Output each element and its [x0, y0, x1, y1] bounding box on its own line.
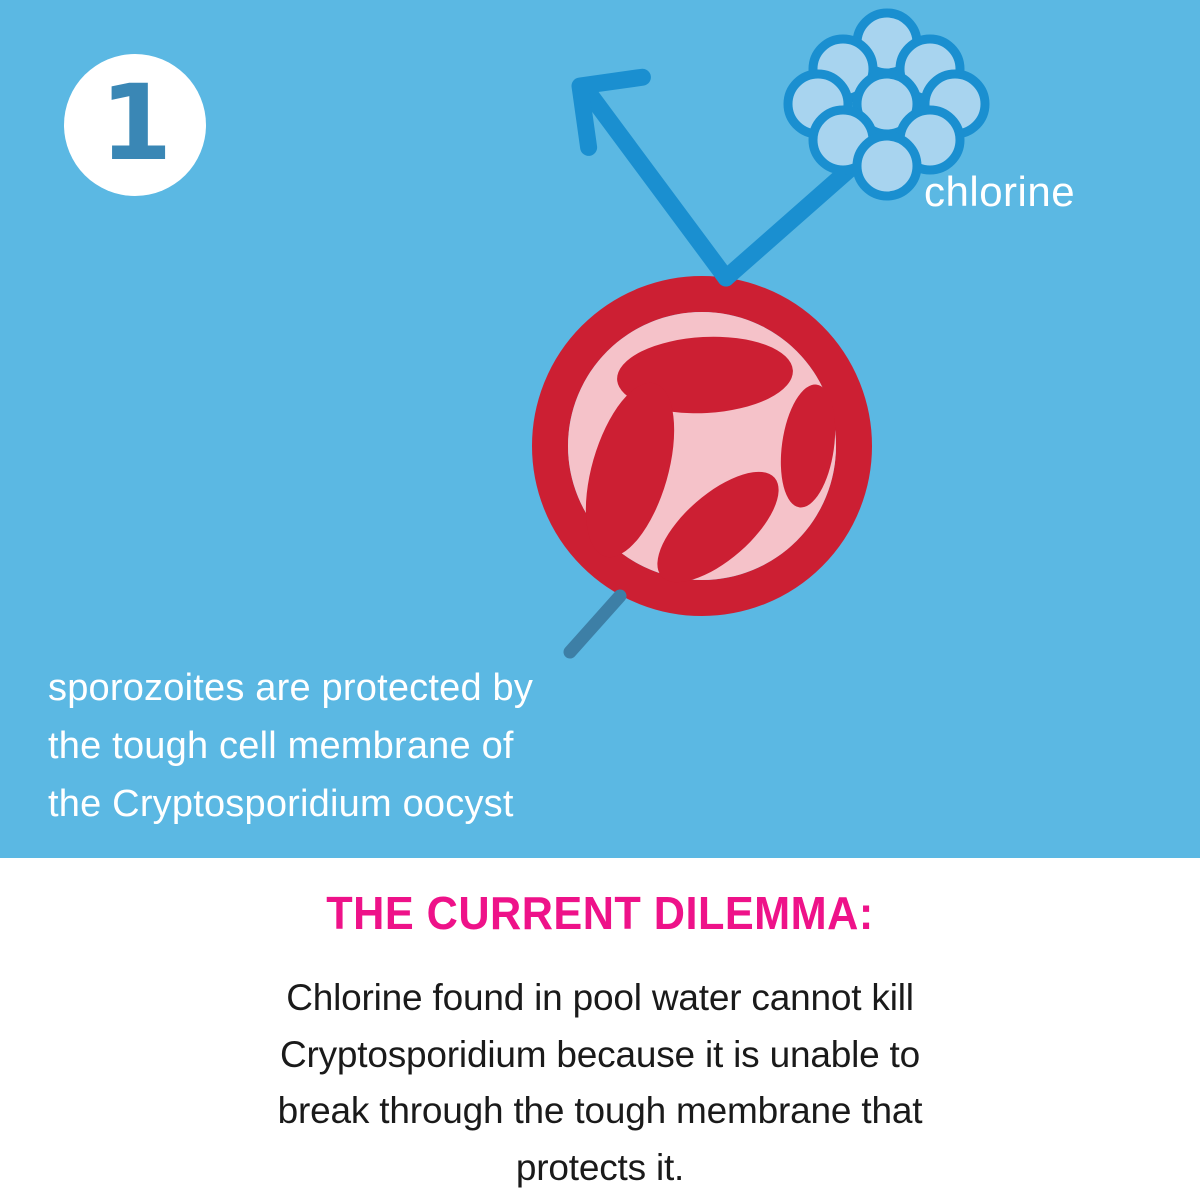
- illustration-panel: 1 chlorine sporozoites are protected by …: [0, 0, 1200, 858]
- sporozoite-bottom: [640, 453, 797, 601]
- caption-line: sporozoites are protected by: [48, 660, 688, 718]
- chlorine-atom: [900, 39, 960, 99]
- illustration-caption: sporozoites are protected by the tough c…: [48, 660, 688, 833]
- chlorine-atom: [925, 74, 985, 134]
- oocyst-membrane-ring: [550, 294, 854, 598]
- caption-line: the tough cell membrane of: [48, 718, 688, 776]
- arrow-incoming-segment: [726, 160, 860, 278]
- sporozoite-left: [569, 373, 692, 567]
- arrow-head: [580, 77, 651, 147]
- step-number-badge: 1: [64, 54, 206, 196]
- sporozoite-right: [774, 381, 843, 511]
- chlorine-atom: [857, 13, 917, 73]
- dilemma-body: Chlorine found in pool water cannot kill…: [120, 970, 1080, 1196]
- arrow-rebound-segment: [588, 92, 726, 278]
- caption-line: the Cryptosporidium oocyst: [48, 776, 688, 834]
- text-panel: THE CURRENT DILEMMA: Chlorine found in p…: [0, 858, 1200, 1200]
- chlorine-atom: [813, 110, 873, 170]
- infographic-page: 1 chlorine sporozoites are protected by …: [0, 0, 1200, 1200]
- chlorine-label: chlorine: [924, 168, 1075, 216]
- dilemma-body-line: Cryptosporidium because it is unable to: [120, 1027, 1080, 1084]
- dilemma-heading: THE CURRENT DILEMMA:: [36, 886, 1164, 940]
- dilemma-body-line: protects it.: [120, 1140, 1080, 1197]
- chlorine-atom: [813, 39, 873, 99]
- chlorine-atom: [900, 110, 960, 170]
- chlorine-atom: [857, 74, 917, 134]
- chlorine-atom: [788, 74, 848, 134]
- sporozoite-top: [615, 332, 795, 417]
- oocyst-interior: [568, 312, 836, 580]
- dilemma-body-line: break through the tough membrane that: [120, 1083, 1080, 1140]
- step-number-value: 1: [100, 71, 170, 175]
- chlorine-atom: [857, 136, 917, 196]
- dilemma-body-line: Chlorine found in pool water cannot kill: [120, 970, 1080, 1027]
- leader-stroke: [570, 596, 620, 652]
